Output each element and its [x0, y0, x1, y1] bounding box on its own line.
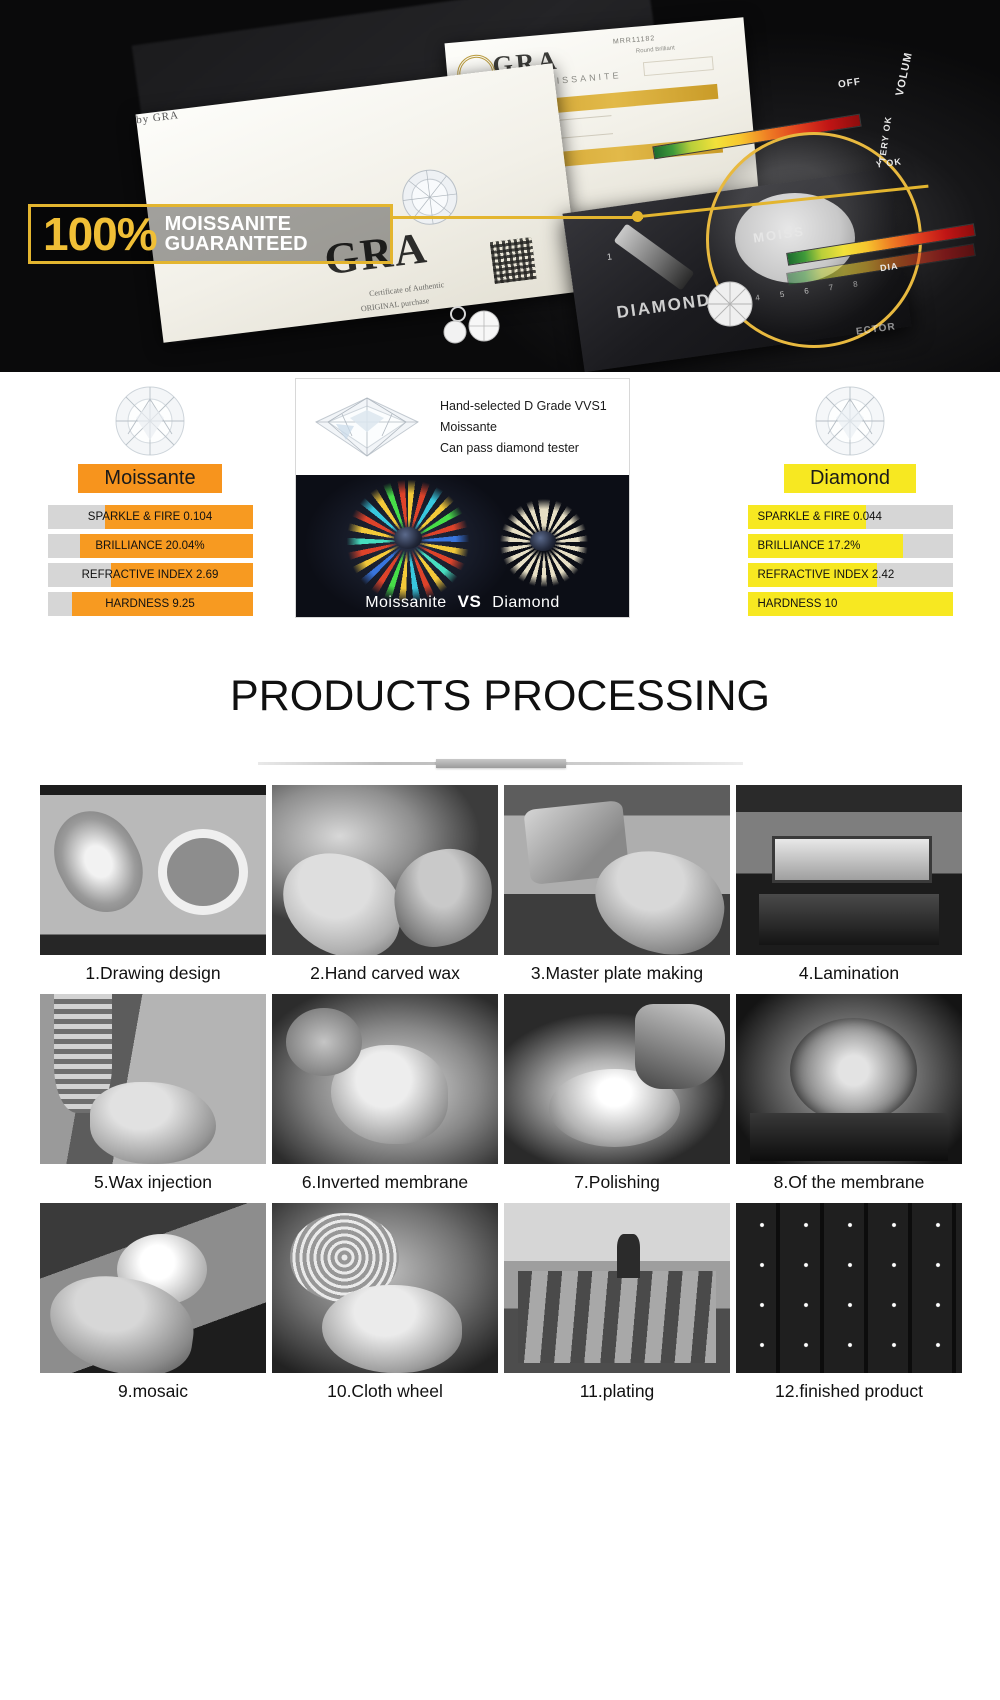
- moissanite-vs-diamond-panel: Hand-selected D Grade VVS1 Moissante Can…: [295, 378, 630, 618]
- panel-text-lines: Hand-selected D Grade VVS1 Moissante Can…: [426, 396, 607, 459]
- master-plate-making-photo: [504, 785, 730, 955]
- vs-caption-left: Moissanite: [365, 594, 446, 611]
- process-row: 9.mosaic 10.Cloth wheel 11.plating 12.fi…: [40, 1203, 960, 1408]
- certificate-diamond-illustration: [390, 163, 469, 231]
- step-caption: 4.Lamination: [736, 955, 962, 990]
- process-step: 9.mosaic: [40, 1203, 266, 1408]
- gra-cert-line-2: ORIGINAL purchase: [360, 296, 429, 313]
- moissanite-title-chip: Moissante: [78, 464, 221, 493]
- bar-label: BRILLIANCE 20.04%: [48, 534, 253, 558]
- comparison-section: Moissante SPARKLE & FIRE 0.104 BRILLIANC…: [0, 372, 1000, 644]
- inverted-membrane-photo: [272, 994, 498, 1164]
- process-step: 4.Lamination: [736, 785, 962, 990]
- step-caption: 7.Polishing: [504, 1164, 730, 1199]
- cad-ring-drawing-photo: [40, 785, 266, 955]
- gra-report-number: MRR11182: [613, 35, 656, 46]
- brilliant-cut-gem-icon: [308, 392, 426, 462]
- bar-row: SPARKLE & FIRE 0.104: [48, 505, 253, 529]
- diamond-column: Diamond SPARKLE & FIRE 0.044 BRILLIANCE …: [700, 382, 1000, 621]
- step-caption: 12.finished product: [736, 1373, 962, 1408]
- gra-report-right-note: Round Brilliant: [636, 45, 675, 54]
- bar-row: HARDNESS 9.25: [48, 592, 253, 616]
- process-step: 2.Hand carved wax: [272, 785, 498, 990]
- vs-caption: Moissanite VS Diamond: [296, 592, 629, 612]
- panel-line-1: Hand-selected D Grade VVS1: [440, 396, 607, 417]
- step-caption: 5.Wax injection: [40, 1164, 266, 1199]
- title-divider: [258, 759, 743, 769]
- bar-row: BRILLIANCE 17.2%: [748, 534, 953, 558]
- section-title: PRODUCTS PROCESSING: [0, 644, 1000, 721]
- step-caption: 2.Hand carved wax: [272, 955, 498, 990]
- moissanite-column: Moissante SPARKLE & FIRE 0.104 BRILLIANC…: [0, 382, 300, 621]
- bar-label: REFRACTIVE INDEX 2.69: [48, 563, 253, 587]
- guarantee-badge: 100% MOISSANITE GUARANTEED: [28, 204, 393, 264]
- diamond-title-chip: Diamond: [784, 464, 916, 493]
- panel-line-2: Moissante: [440, 417, 607, 438]
- process-steps-grid: 1.Drawing design 2.Hand carved wax 3.Mas…: [40, 785, 960, 1408]
- callout-line-horizontal: [393, 216, 643, 219]
- panel-line-3: Can pass diamond tester: [440, 438, 607, 459]
- bar-row: HARDNESS 10: [748, 592, 953, 616]
- process-row: 1.Drawing design 2.Hand carved wax 3.Mas…: [40, 785, 960, 990]
- finished-product-tray-photo: [736, 1203, 962, 1373]
- panel-header: Hand-selected D Grade VVS1 Moissante Can…: [296, 379, 629, 475]
- vs-caption-vs: VS: [458, 592, 482, 611]
- process-step: 1.Drawing design: [40, 785, 266, 990]
- process-step: 7.Polishing: [504, 994, 730, 1199]
- process-step: 6.Inverted membrane: [272, 994, 498, 1199]
- step-caption: 8.Of the membrane: [736, 1164, 962, 1199]
- process-step: 3.Master plate making: [504, 785, 730, 990]
- bar-row: REFRACTIVE INDEX 2.69: [48, 563, 253, 587]
- vs-caption-right: Diamond: [492, 594, 560, 611]
- bar-row: SPARKLE & FIRE 0.044: [748, 505, 953, 529]
- tester-device-label: DIAMOND: [615, 290, 712, 323]
- diamond-stone-core: [530, 531, 556, 551]
- cloth-wheel-photo: [272, 1203, 498, 1373]
- wax-injection-photo: [40, 994, 266, 1164]
- bar-label: HARDNESS 9.25: [48, 592, 253, 616]
- bar-label: SPARKLE & FIRE 0.104: [48, 505, 253, 529]
- step-caption: 6.Inverted membrane: [272, 1164, 498, 1199]
- qr-code-icon: [490, 237, 537, 284]
- guarantee-percent: 100%: [31, 211, 165, 257]
- diamond-gem-icon: [804, 382, 896, 460]
- step-caption: 9.mosaic: [40, 1373, 266, 1408]
- step-caption: 1.Drawing design: [40, 955, 266, 990]
- mosaic-setting-photo: [40, 1203, 266, 1373]
- hand-carving-wax-photo: [272, 785, 498, 955]
- divider-center-block: [436, 759, 566, 768]
- callout-endpoint-dot: [632, 211, 643, 222]
- earring-pair-image: [436, 296, 504, 354]
- moissanite-stone-core: [394, 527, 422, 549]
- process-row: 5.Wax injection 6.Inverted membrane 7.Po…: [40, 994, 960, 1199]
- diamond-bar-list: SPARKLE & FIRE 0.044 BRILLIANCE 17.2% RE…: [748, 505, 953, 621]
- guarantee-text: MOISSANITE GUARANTEED: [165, 214, 308, 255]
- moissanite-gem-icon: [104, 382, 196, 460]
- products-processing-section: PRODUCTS PROCESSING 1.Drawing design 2.H…: [0, 644, 1000, 1408]
- lamination-machine-photo: [736, 785, 962, 955]
- polishing-photo: [504, 994, 730, 1164]
- process-step: 8.Of the membrane: [736, 994, 962, 1199]
- bar-row: BRILLIANCE 20.04%: [48, 534, 253, 558]
- step-caption: 11.plating: [504, 1373, 730, 1408]
- step-caption: 10.Cloth wheel: [272, 1373, 498, 1408]
- loose-stone-image: [700, 278, 760, 330]
- of-the-membrane-photo: [736, 994, 962, 1164]
- bar-label: REFRACTIVE INDEX 2.42: [748, 563, 953, 587]
- report-detail-box: [643, 56, 714, 76]
- process-step: 10.Cloth wheel: [272, 1203, 498, 1408]
- plating-line-photo: [504, 1203, 730, 1373]
- bar-label: SPARKLE & FIRE 0.044: [748, 505, 953, 529]
- bar-row: REFRACTIVE INDEX 2.42: [748, 563, 953, 587]
- moissanite-bar-list: SPARKLE & FIRE 0.104 BRILLIANCE 20.04% R…: [48, 505, 253, 621]
- process-step: 5.Wax injection: [40, 994, 266, 1199]
- guarantee-line-1: MOISSANITE: [165, 214, 308, 234]
- process-step: 12.finished product: [736, 1203, 962, 1408]
- process-step: 11.plating: [504, 1203, 730, 1408]
- sparkle-comparison-photo: Moissanite VS Diamond: [296, 475, 629, 618]
- guarantee-line-2: GUARANTEED: [165, 234, 308, 254]
- gra-cert-line-1: Certificate of Authentic: [369, 280, 445, 298]
- bar-label: BRILLIANCE 17.2%: [748, 534, 953, 558]
- hero-banner: GRA MOISSANITE MRR11182 Round Brilliant …: [0, 0, 1000, 372]
- step-caption: 3.Master plate making: [504, 955, 730, 990]
- bar-label: HARDNESS 10: [748, 592, 953, 616]
